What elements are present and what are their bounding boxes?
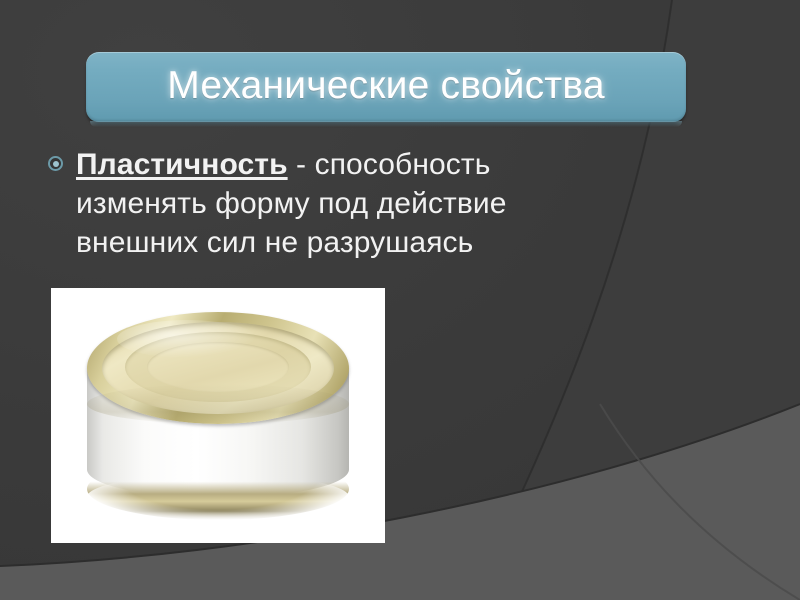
slide-title-banner: Механические свойства <box>86 52 686 122</box>
bullet-text: Пластичность - способность изменять форм… <box>76 145 608 262</box>
can-illustration <box>51 288 385 543</box>
tin-can-photo <box>51 288 385 543</box>
presentation-slide: Механические свойства Пластичность - спо… <box>0 0 800 600</box>
can-bottom-highlight <box>87 474 349 520</box>
bullet-lead-term: Пластичность <box>76 148 288 181</box>
bullet-separator: - <box>288 148 315 181</box>
ring-bullet-icon <box>48 156 63 171</box>
can-lid-ring-inner <box>147 342 289 392</box>
bullet-list-item: Пластичность - способность изменять форм… <box>48 145 608 262</box>
slide-title: Механические свойства <box>167 66 605 105</box>
